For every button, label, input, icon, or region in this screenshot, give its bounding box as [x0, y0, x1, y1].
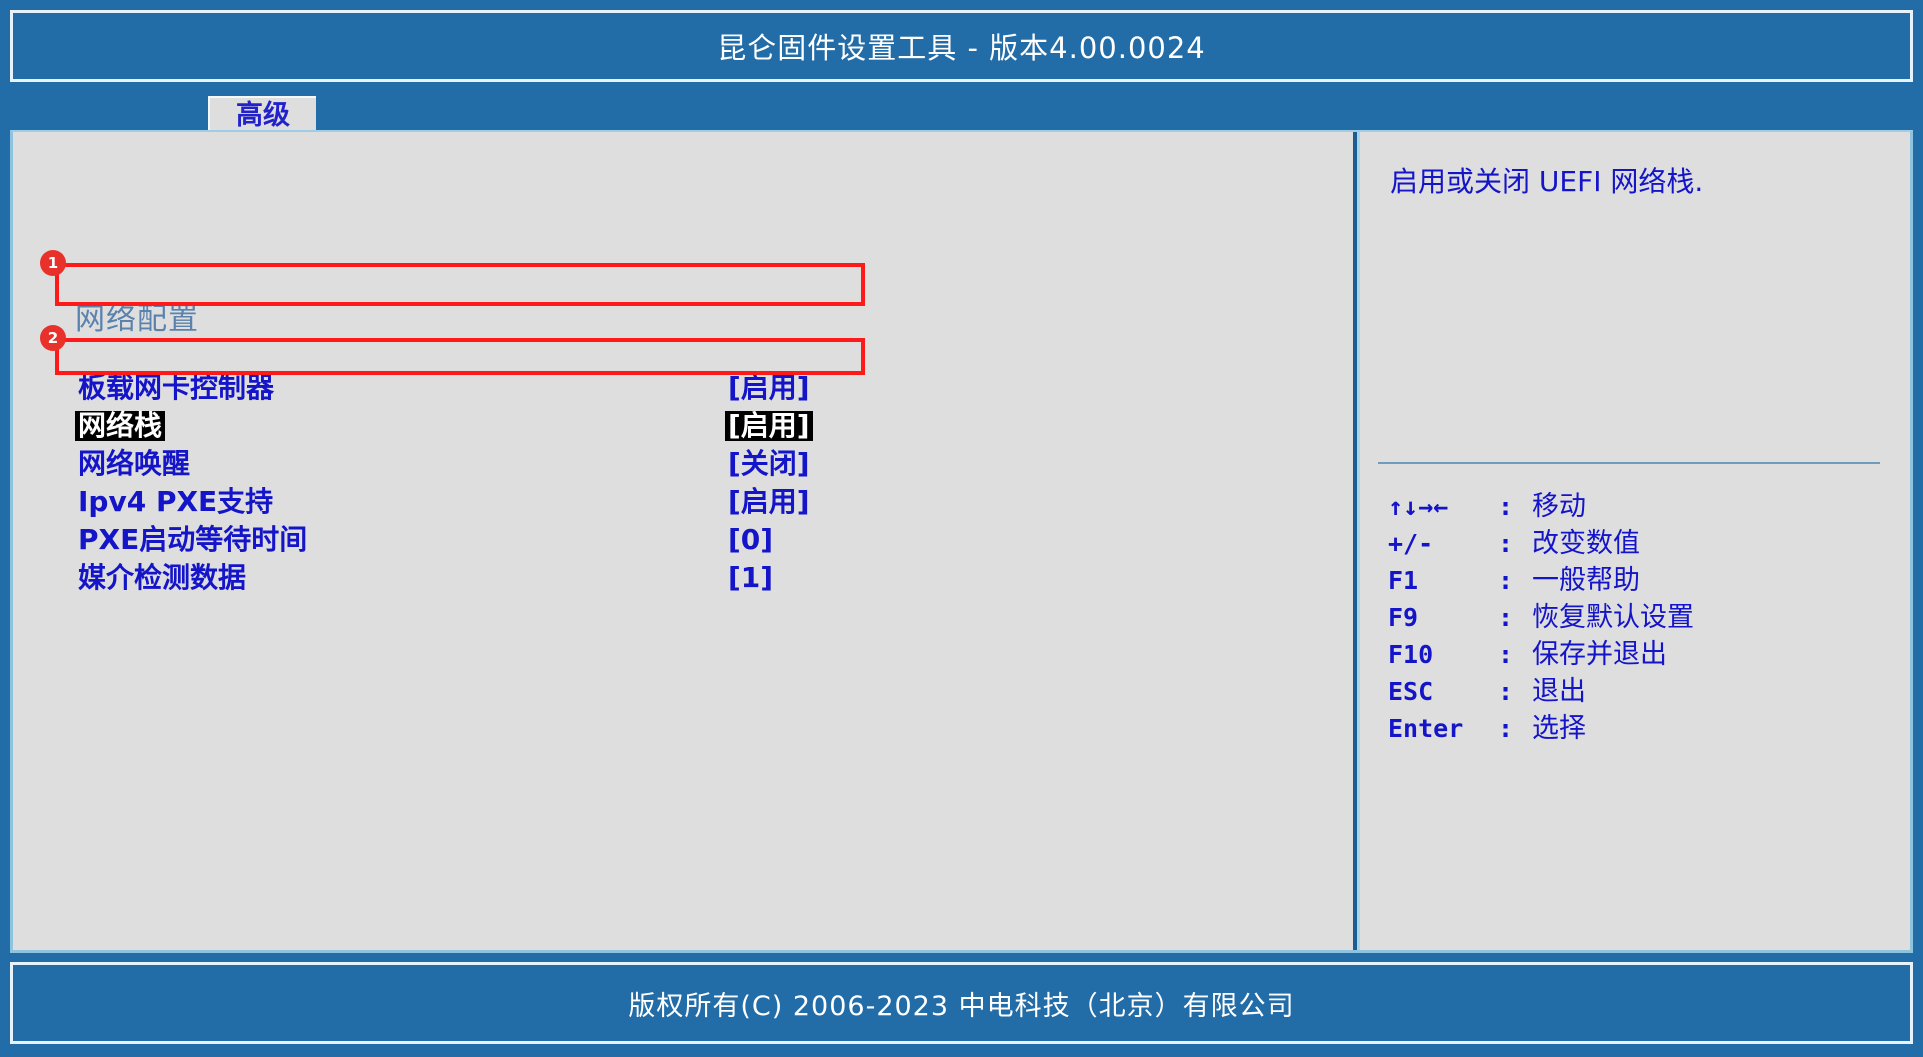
shortcut-separator: : — [1498, 677, 1532, 706]
shortcut-separator: : — [1498, 529, 1532, 558]
window-title: 昆仑固件设置工具 - 版本4.00.0024 — [717, 25, 1206, 67]
key-esc: ESC — [1388, 677, 1498, 706]
setting-label: 媒介检测数据 — [75, 563, 249, 593]
shortcut-separator: : — [1498, 603, 1532, 632]
setting-label: Ipv4 PXE支持 — [75, 487, 276, 517]
setting-row-ipv4-pxe-support[interactable]: Ipv4 PXE支持 [启用] — [75, 483, 1295, 521]
shortcut-separator: : — [1498, 566, 1532, 595]
shortcut-move: ↑↓→← : 移动 — [1388, 484, 1900, 521]
title-bar: 昆仑固件设置工具 - 版本4.00.0024 — [10, 10, 1913, 82]
shortcut-save-and-exit: F10 : 保存并退出 — [1388, 632, 1900, 669]
key-f10: F10 — [1388, 640, 1498, 669]
key-f9: F9 — [1388, 603, 1498, 632]
setting-row-pxe-boot-wait-time[interactable]: PXE启动等待时间 [0] — [75, 521, 1295, 559]
setting-label: 板载网卡控制器 — [75, 373, 277, 403]
tab-strip: 高级 — [0, 84, 1923, 132]
shortcut-description: 恢复默认设置 — [1532, 595, 1694, 634]
key-enter: Enter — [1388, 714, 1498, 743]
shortcut-load-defaults: F9 : 恢复默认设置 — [1388, 595, 1900, 632]
setting-row-onboard-nic[interactable]: 板载网卡控制器 [启用] — [75, 369, 1295, 407]
help-divider — [1378, 462, 1880, 464]
shortcut-description: 退出 — [1532, 669, 1586, 708]
shortcut-description: 一般帮助 — [1532, 558, 1640, 597]
shortcut-description: 移动 — [1532, 484, 1586, 523]
arrow-keys-icon: ↑↓→← — [1388, 492, 1498, 521]
setting-value[interactable]: [0] — [725, 525, 776, 555]
shortcut-separator: : — [1498, 640, 1532, 669]
shortcut-description: 选择 — [1532, 706, 1586, 745]
tab-advanced[interactable]: 高级 — [208, 96, 316, 132]
plus-minus-icon: +/- — [1388, 529, 1498, 558]
key-f1: F1 — [1388, 566, 1498, 595]
shortcut-select: Enter : 选择 — [1388, 706, 1900, 743]
annotation-badge-2: 2 — [40, 325, 66, 351]
shortcut-separator: : — [1498, 714, 1532, 743]
setting-label: 网络栈 — [75, 411, 165, 441]
tab-advanced-label: 高级 — [236, 102, 290, 129]
shortcut-change-value: +/- : 改变数值 — [1388, 521, 1900, 558]
copyright-text: 版权所有(C) 2006-2023 中电科技（北京）有限公司 — [628, 984, 1294, 1023]
setting-value[interactable]: [关闭] — [725, 449, 813, 479]
settings-pane: 网络配置 板载网卡控制器 [启用] 网络栈 [启用] 网络唤醒 [关闭] Ipv… — [13, 132, 1357, 950]
setting-value[interactable]: [启用] — [725, 487, 813, 517]
settings-list: 板载网卡控制器 [启用] 网络栈 [启用] 网络唤醒 [关闭] Ipv4 PXE… — [75, 369, 1295, 597]
content-frame: 网络配置 板载网卡控制器 [启用] 网络栈 [启用] 网络唤醒 [关闭] Ipv… — [10, 130, 1913, 953]
shortcut-exit: ESC : 退出 — [1388, 669, 1900, 706]
setting-row-wake-on-lan[interactable]: 网络唤醒 [关闭] — [75, 445, 1295, 483]
setting-value[interactable]: [启用] — [725, 373, 813, 403]
setting-value[interactable]: [1] — [725, 563, 776, 593]
section-heading: 网络配置 — [75, 294, 199, 338]
shortcut-general-help: F1 : 一般帮助 — [1388, 558, 1900, 595]
setting-value[interactable]: [启用] — [725, 411, 813, 441]
shortcut-description: 保存并退出 — [1532, 632, 1667, 671]
setting-label: 网络唤醒 — [75, 449, 193, 479]
setting-row-media-detect-count[interactable]: 媒介检测数据 [1] — [75, 559, 1295, 597]
shortcut-description: 改变数值 — [1532, 521, 1640, 560]
shortcut-separator: : — [1498, 492, 1532, 521]
help-pane: 启用或关闭 UEFI 网络栈. ↑↓→← : 移动 +/- : 改变数值 F1 … — [1357, 132, 1910, 950]
shortcut-legend: ↑↓→← : 移动 +/- : 改变数值 F1 : 一般帮助 F9 : — [1388, 484, 1900, 743]
bios-setup-screen: 昆仑固件设置工具 - 版本4.00.0024 高级 网络配置 板载网卡控制器 [… — [0, 0, 1923, 1057]
setting-row-network-stack[interactable]: 网络栈 [启用] — [75, 407, 1295, 445]
footer-bar: 版权所有(C) 2006-2023 中电科技（北京）有限公司 — [10, 962, 1913, 1044]
help-description: 启用或关闭 UEFI 网络栈. — [1390, 162, 1890, 201]
setting-label: PXE启动等待时间 — [75, 525, 310, 555]
annotation-badge-1: 1 — [40, 250, 66, 276]
